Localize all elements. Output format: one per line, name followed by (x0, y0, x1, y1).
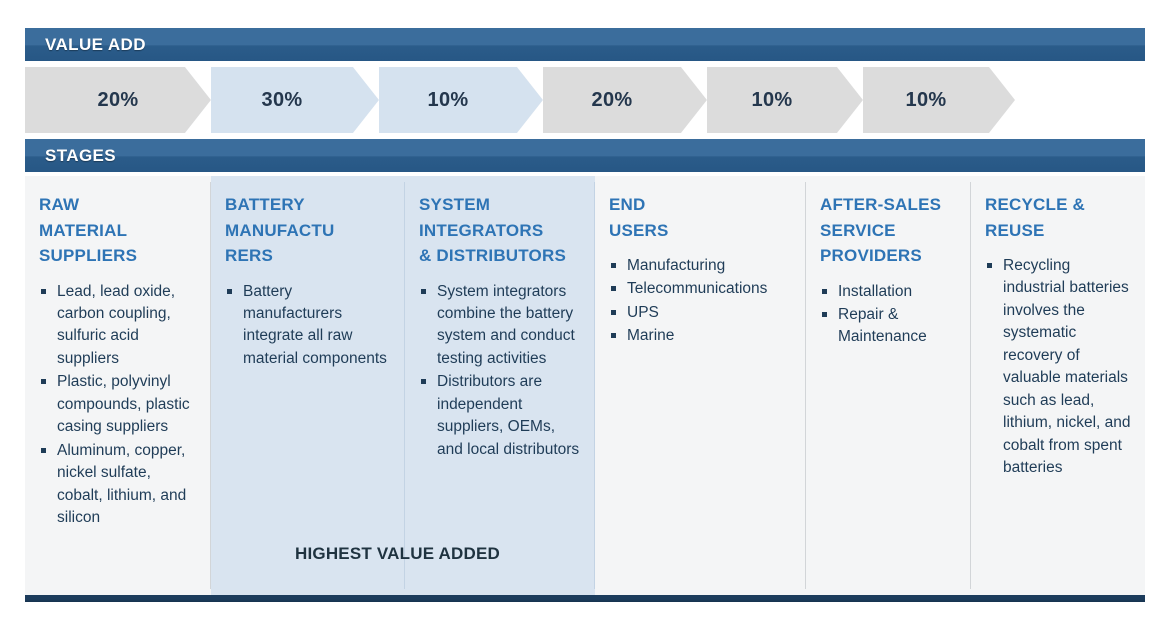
square-bullet-icon (421, 289, 426, 294)
square-bullet-icon (987, 263, 992, 268)
stage-title: END USERS (609, 192, 792, 243)
square-bullet-icon (421, 379, 426, 384)
value-add-chevron-6: 10% (837, 67, 1015, 133)
stage-bullet-text: Aluminum, copper, nickel sulfate, cobalt… (57, 442, 186, 526)
square-bullet-icon (227, 289, 232, 294)
stage-column-3: SYSTEM INTEGRATORS & DISTRIBUTORSSystem … (405, 176, 595, 595)
value-add-chevron-strip: 20%30%10%20%10%10% (25, 67, 1145, 133)
stage-bullet-text: Manufacturing (627, 257, 725, 274)
stage-bullet-item: Battery manufacturers integrate all raw … (225, 281, 391, 371)
stage-column-4: END USERSManufacturingTelecommunications… (595, 176, 806, 595)
stages-grid: RAW MATERIAL SUPPLIERSLead, lead oxide, … (25, 176, 1145, 595)
stage-bullet-item: Installation (820, 281, 957, 303)
value-add-percent: 30% (262, 89, 303, 112)
stages-header-label: STAGES (45, 146, 116, 166)
value-add-chevron-2: 30% (185, 67, 379, 133)
stage-column-1: RAW MATERIAL SUPPLIERSLead, lead oxide, … (25, 176, 211, 595)
square-bullet-icon (41, 448, 46, 453)
square-bullet-icon (611, 263, 616, 268)
stage-title: BATTERY MANUFACTU RERS (225, 192, 391, 269)
value-add-chevron-1: 20% (25, 67, 211, 133)
stage-bullet-item: Plastic, polyvinyl compounds, plastic ca… (39, 371, 197, 438)
stage-title: SYSTEM INTEGRATORS & DISTRIBUTORS (419, 192, 581, 269)
square-bullet-icon (611, 333, 616, 338)
stage-bullet-text: Battery manufacturers integrate all raw … (243, 283, 387, 367)
value-add-percent: 10% (428, 89, 469, 112)
stage-bullet-text: UPS (627, 304, 659, 321)
stage-bullet-text: System integrators combine the battery s… (437, 283, 575, 367)
value-add-percent: 20% (98, 89, 139, 112)
square-bullet-icon (41, 379, 46, 384)
highest-value-added-annotation: HIGHEST VALUE ADDED (211, 544, 584, 564)
stages-header-bar: STAGES (25, 139, 1145, 172)
stage-bullet-item: Marine (609, 325, 792, 347)
value-chain-diagram: VALUE ADD 20%30%10%20%10%10% STAGES RAW … (0, 0, 1170, 627)
square-bullet-icon (611, 286, 616, 291)
stage-bullet-list: InstallationRepair & Maintenance (820, 281, 957, 349)
stage-bullet-list: ManufacturingTelecommunicationsUPSMarine (609, 255, 792, 348)
stage-bullet-list: Battery manufacturers integrate all raw … (225, 281, 391, 371)
value-add-header-label: VALUE ADD (45, 35, 146, 55)
stage-bullet-text: Telecommunications (627, 280, 767, 297)
stage-bullet-text: Lead, lead oxide, carbon coupling, sulfu… (57, 283, 175, 367)
value-add-chevron-4: 20% (517, 67, 707, 133)
stage-bullet-item: Recycling industrial batteries involves … (985, 255, 1131, 480)
stage-bullet-item: Distributors are independent suppliers, … (419, 371, 581, 461)
value-add-chevron-3: 10% (353, 67, 543, 133)
stage-bullet-list: Lead, lead oxide, carbon coupling, sulfu… (39, 281, 197, 530)
stage-title: AFTER-SALES SERVICE PROVIDERS (820, 192, 957, 269)
stage-bullet-item: UPS (609, 302, 792, 324)
stage-bullet-item: Telecommunications (609, 278, 792, 300)
square-bullet-icon (822, 312, 827, 317)
value-add-percent: 20% (592, 89, 633, 112)
stage-bullet-item: System integrators combine the battery s… (419, 281, 581, 371)
value-add-chevron-5: 10% (681, 67, 863, 133)
value-add-percent: 10% (906, 89, 947, 112)
stage-bullet-text: Plastic, polyvinyl compounds, plastic ca… (57, 373, 190, 435)
value-add-percent: 10% (752, 89, 793, 112)
bottom-rule (25, 595, 1145, 602)
stage-bullet-list: System integrators combine the battery s… (419, 281, 581, 462)
stage-bullet-text: Installation (838, 283, 912, 300)
stage-bullet-item: Lead, lead oxide, carbon coupling, sulfu… (39, 281, 197, 371)
stage-bullet-text: Repair & Maintenance (838, 306, 927, 345)
stage-title: RECYCLE & REUSE (985, 192, 1131, 243)
stage-bullet-item: Repair & Maintenance (820, 304, 957, 349)
stage-bullet-text: Marine (627, 327, 674, 344)
stage-bullet-text: Distributors are independent suppliers, … (437, 373, 579, 457)
stage-bullet-item: Aluminum, copper, nickel sulfate, cobalt… (39, 440, 197, 530)
stage-bullet-item: Manufacturing (609, 255, 792, 277)
stage-bullet-list: Recycling industrial batteries involves … (985, 255, 1131, 480)
stage-bullet-text: Recycling industrial batteries involves … (1003, 257, 1131, 476)
square-bullet-icon (41, 289, 46, 294)
stage-column-2: BATTERY MANUFACTU RERSBattery manufactur… (211, 176, 405, 595)
square-bullet-icon (611, 310, 616, 315)
square-bullet-icon (822, 289, 827, 294)
stage-column-6: RECYCLE & REUSERecycling industrial batt… (971, 176, 1145, 595)
value-add-header-bar: VALUE ADD (25, 28, 1145, 61)
stage-title: RAW MATERIAL SUPPLIERS (39, 192, 197, 269)
stage-column-5: AFTER-SALES SERVICE PROVIDERSInstallatio… (806, 176, 971, 595)
